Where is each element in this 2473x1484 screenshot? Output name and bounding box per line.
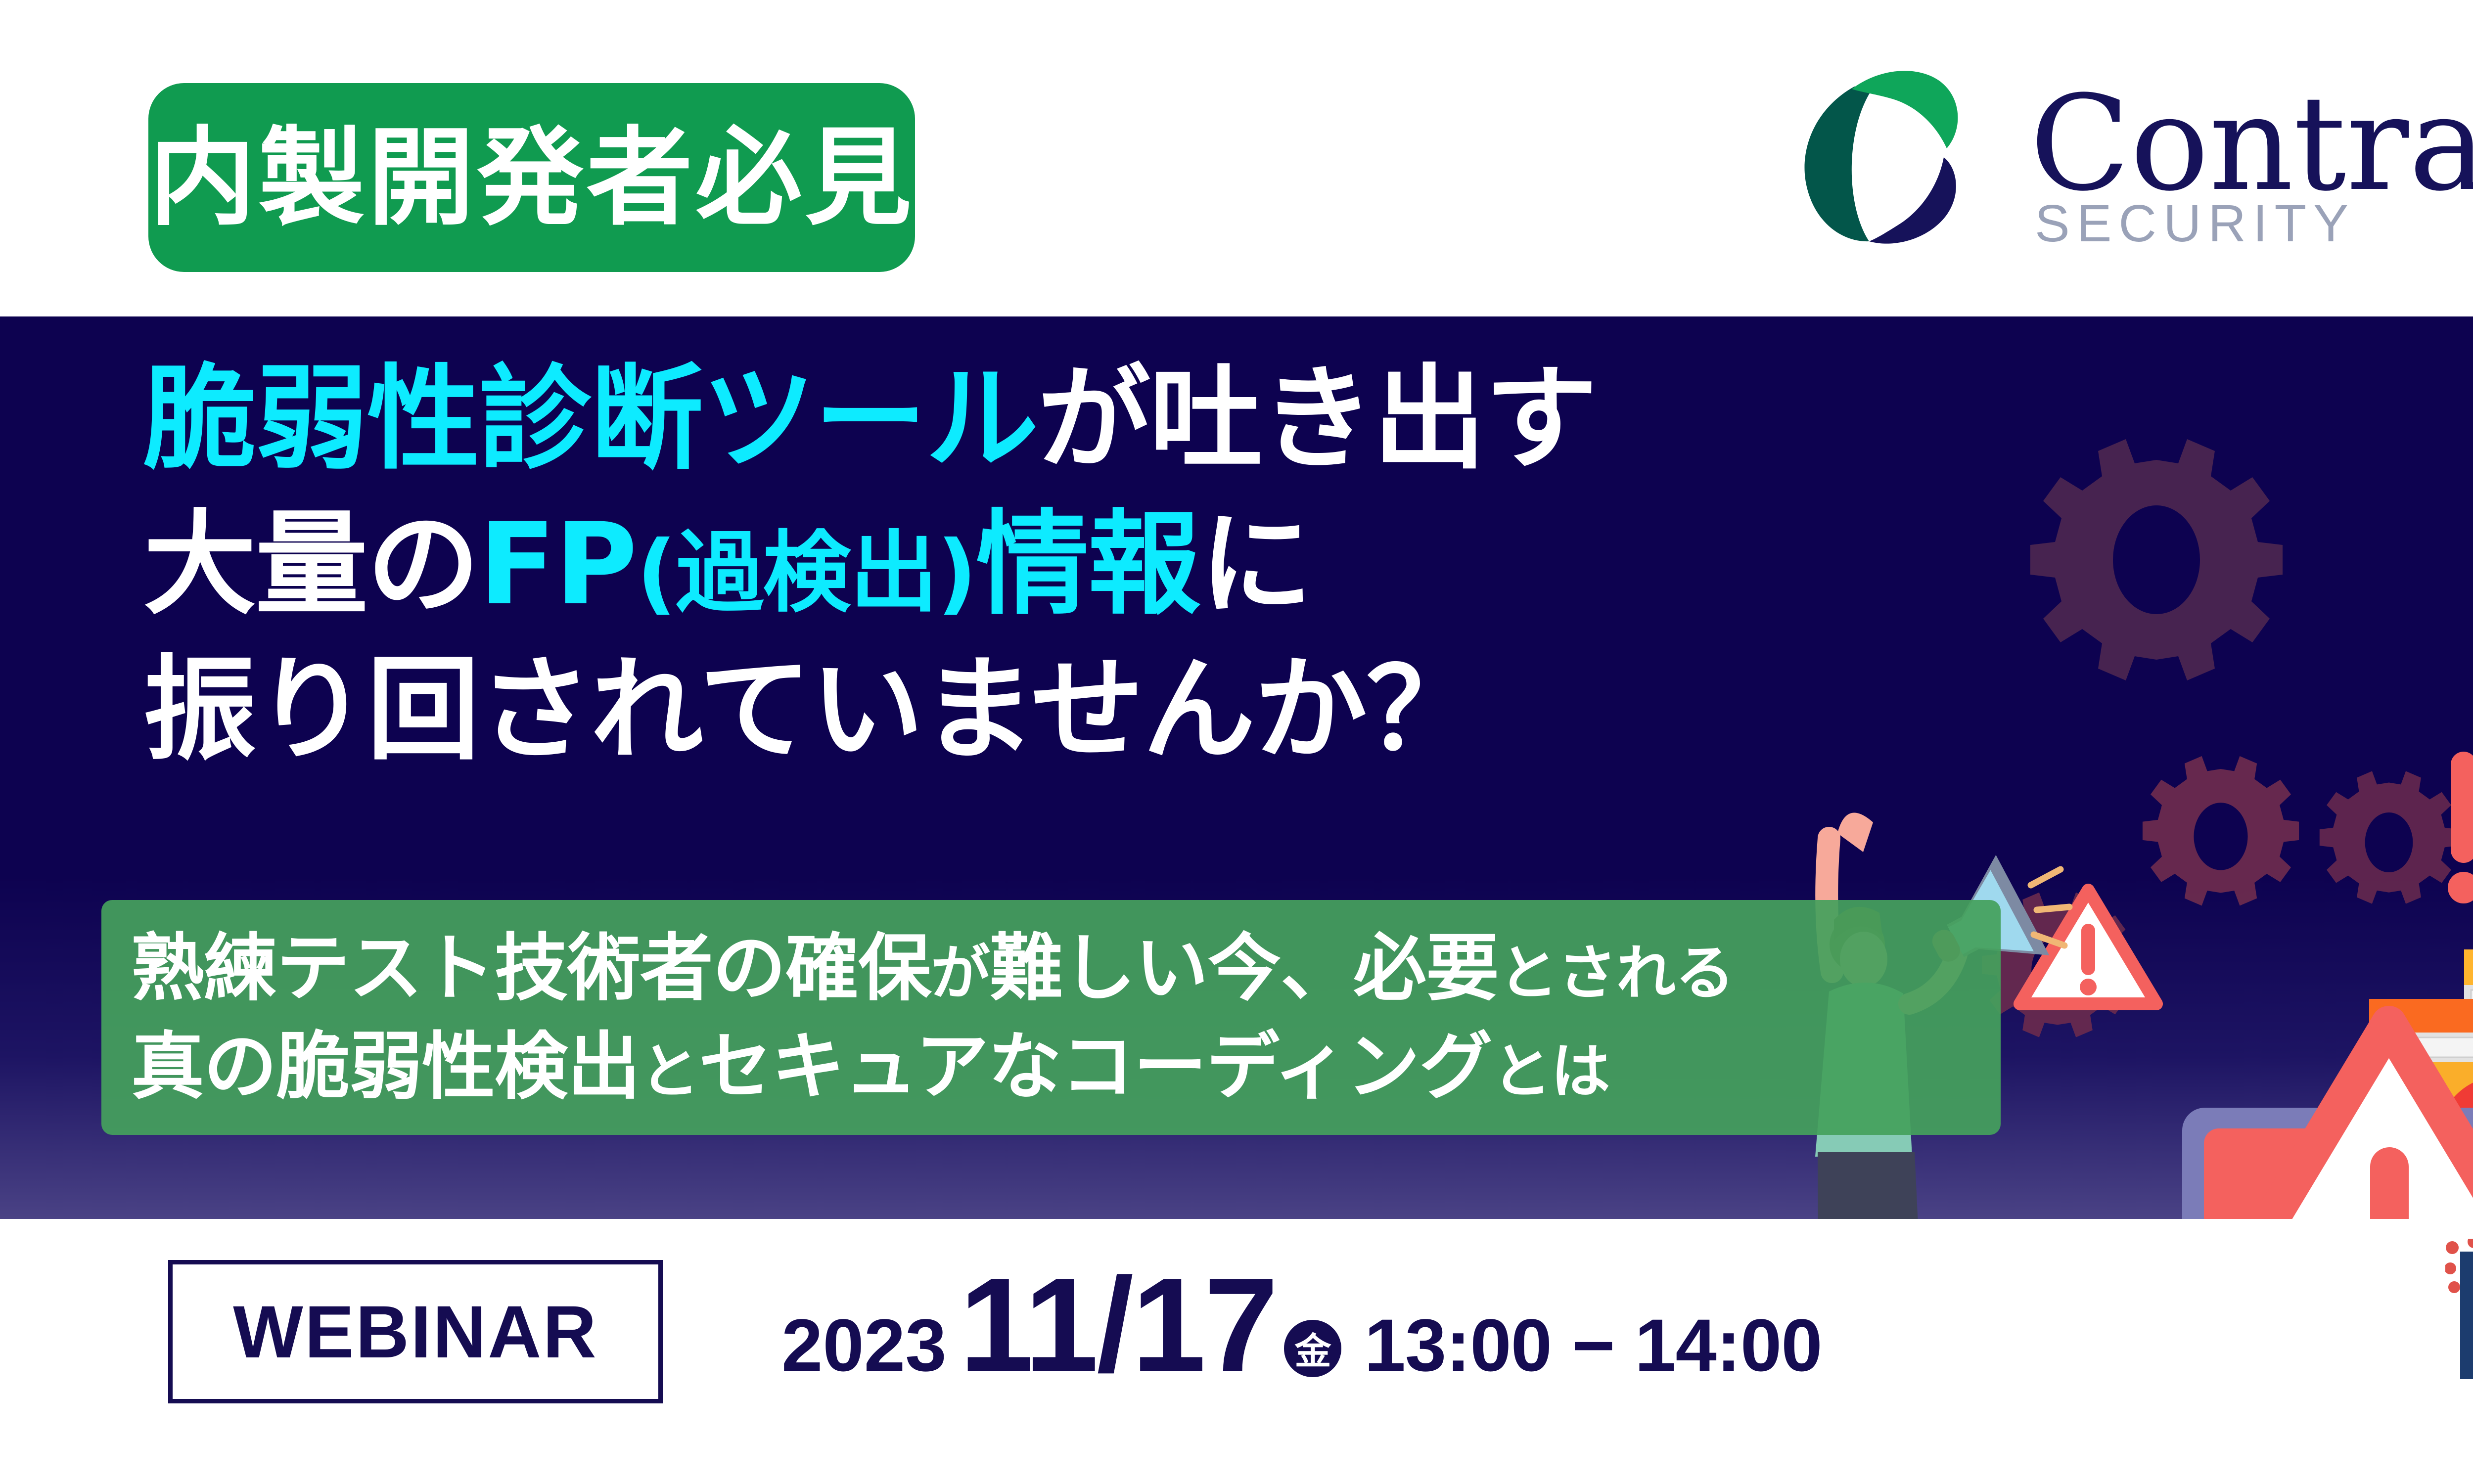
subtitle-seg-2a: 真の脆弱性検出 [131,1024,640,1109]
headline-plain-2a: 大量の [143,498,479,630]
headline-accent-2b: 情報 [976,498,1200,630]
swirl-shape [2437,1076,2473,1197]
webinar-label: WEBINAR [233,1289,598,1375]
logo-mark-teal [1804,87,1874,241]
subtitle-line-2: 真の脆弱性検出とセキュアなコーディングとは [131,1018,2001,1116]
gear-icon [2320,771,2459,903]
event-date: 11/17 [960,1259,1277,1392]
gear-icon [2030,439,2283,680]
subtitle-seg-1c: 難しい今、必要 [990,926,1499,1011]
bottom-bar: WEBINAR 2023 11/17 金 13:00 − 14:00 マジ [0,1219,2473,1484]
event-day-of-week-badge: 金 [1284,1320,1341,1377]
sound-lines [2031,869,2069,945]
subtitle-box: 熟練テスト技術者の確保が難しい今、必要とされる 真の脆弱性検出とセキュアなコーデ… [101,900,2001,1135]
majisemi-logo: マジ セミ [2445,1239,2473,1402]
headline-plain-2b: に [1200,498,1312,630]
subtitle-seg-2d: とは [1492,1037,1610,1106]
webinar-badge: WEBINAR [168,1260,663,1403]
subtitle-line-1: 熟練テスト技術者の確保が難しい今、必要とされる [131,919,2001,1017]
headline-plain-1: が吐き出す [1038,353,1597,485]
headline-accent-1: 脆弱性診断ツール [143,353,1038,485]
audience-badge-label: 内製開発者必見 [149,125,915,231]
headline-line-2: 大量のFP(過検出)情報に [143,492,1597,637]
event-time: 13:00 − 14:00 [1364,1303,1822,1388]
gear-icon [1982,893,2133,1037]
exclamation-icon [2448,752,2473,903]
majisemi-box [2460,1252,2473,1379]
logo-subwordmark: SECURITY [2035,194,2355,252]
main-panel: − □ X ≡ − □ X [0,316,2473,1219]
gear-icon [2143,756,2299,906]
browser-window: − □ X ≡ [2369,999,2473,1219]
logo-mark-green [1852,71,1958,148]
warning-triangle-icon [2130,1024,2473,1219]
headline-line-3: 振り回されていませんか？ [143,637,1597,782]
subtitle-seg-2b: と [640,1037,699,1106]
headline-line-1: 脆弱性診断ツールが吐き出す [143,346,1597,492]
audience-badge: 内製開発者必見 [148,83,915,272]
top-bar: 内製開発者必見 Contrast SECURITY [0,0,2473,316]
event-datetime: 2023 11/17 金 13:00 − 14:00 [781,1259,1822,1407]
event-year: 2023 [781,1303,947,1388]
logo-mark-navy [1869,157,1956,244]
subtitle-seg-1b: が [931,939,990,1008]
subtitle-seg-1d: とされる [1499,939,1734,1008]
webinar-banner: 内製開発者必見 Contrast SECURITY [0,0,2473,1484]
warning-triangle-icon [2020,890,2156,1004]
subtitle-seg-1a: 熟練テスト技術者の確保 [131,926,931,1011]
headline-accent-2paren: (過検出) [637,522,976,624]
contrast-security-logo: Contrast SECURITY [1768,45,2473,252]
subtitle-seg-2c: セキュアなコーディング [699,1024,1492,1109]
browser-window: − □ X ≡ [2464,949,2473,1149]
headline-accent-2a: FP [479,498,637,630]
headline: 脆弱性診断ツールが吐き出す 大量のFP(過検出)情報に 振り回されていませんか？ [143,346,1597,782]
error-screen: ERROR [2182,1108,2473,1219]
